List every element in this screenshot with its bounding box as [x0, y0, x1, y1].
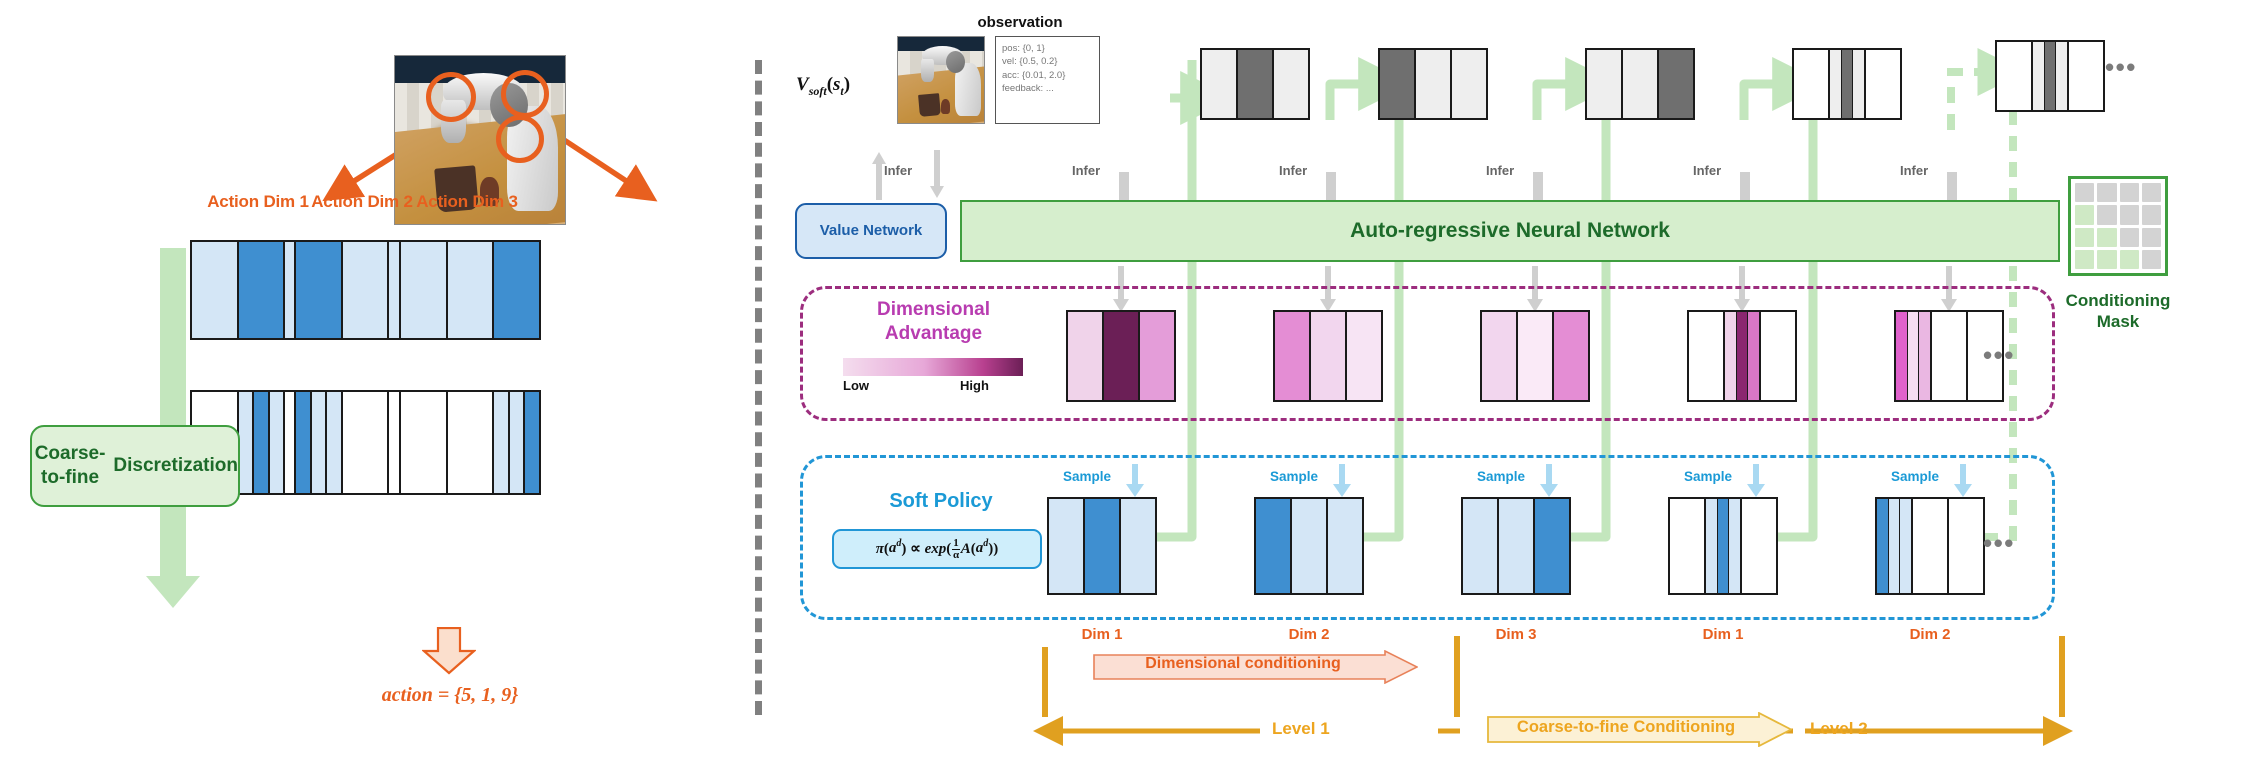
ctf-box-line-1: Coarse-to-fine [32, 442, 108, 490]
sample-label-3: Sample [1477, 469, 1525, 484]
bar-cell-selected [296, 242, 343, 338]
dimensional-advantage-region [800, 286, 2055, 421]
autoregressive-flow-arrow-dashed [1951, 72, 1995, 130]
bar-subcell [2056, 42, 2067, 110]
mask-cell [2075, 205, 2094, 224]
sample-label-2: Sample [1270, 469, 1318, 484]
bar-cell-selected [1535, 499, 1569, 593]
bar-cell [1482, 312, 1518, 400]
bar-cell-expanded [1877, 499, 1913, 593]
infer-label-2: Infer [1279, 163, 1307, 178]
advantage-bar-dim-2 [1273, 310, 1383, 402]
bar-cell [1328, 499, 1362, 593]
bar-subcell-selected [1896, 312, 1908, 400]
bar-subcell-selected [1842, 50, 1854, 118]
bar-cell-selected [1256, 499, 1292, 593]
bar-cell [1311, 312, 1347, 400]
sample-down-arrow-1 [1126, 464, 1144, 498]
dim-footer-2: Dim 2 [1264, 626, 1354, 643]
sample-label-5: Sample [1891, 469, 1939, 484]
bar-cell [1463, 499, 1499, 593]
obs-line-acc: acc: {0.01, 2.0} [1002, 69, 1093, 82]
action-result-value: action = {5, 1, 9} [330, 684, 570, 707]
bar-cell [343, 392, 390, 493]
bar-subcell-selected [1877, 499, 1889, 593]
mask-cell [2075, 183, 2094, 202]
bar-subcell-selected [254, 392, 270, 493]
bar-cell-selected [239, 242, 286, 338]
bar-subcell [312, 392, 328, 493]
sample-down-arrow-5 [1954, 464, 1972, 498]
mask-cell [2120, 183, 2139, 202]
bar-cell [1932, 312, 1968, 400]
infer-up-connector-3 [1533, 172, 1543, 202]
mask-cell [2097, 250, 2116, 269]
ctf-box-line-2: Discretization [113, 454, 238, 478]
soft-policy-formula: π(ad) ∝ exp(1αA(ad)) [832, 529, 1042, 569]
bar-cell [1518, 312, 1554, 400]
sample-down-arrow-2 [1333, 464, 1351, 498]
bar-cell [401, 392, 448, 493]
policy-bar-dim-1 [1047, 497, 1157, 595]
level-1-footer: Level 1 [1272, 719, 1330, 739]
value-network-line-2: Network [863, 221, 922, 241]
bar-cell-selected [1275, 312, 1311, 400]
mask-cell [2097, 183, 2116, 202]
policy-bar-dim-3 [1461, 497, 1571, 595]
bar-cell-selected [1659, 50, 1693, 118]
advantage-row-ellipsis: ••• [1983, 340, 2015, 371]
bar-cell-expanded [1706, 499, 1742, 593]
bar-subcell [1853, 50, 1864, 118]
mask-label-line-2: Mask [2097, 312, 2140, 331]
bar-cell [1499, 499, 1535, 593]
conditioning-mask-label: Conditioning Mask [2028, 290, 2208, 333]
obs-line-feedback: feedback: ... [1002, 82, 1093, 95]
coarse-to-fine-conditioning-label: Coarse-to-fine Conditioning [1487, 718, 1765, 737]
advantage-bar-dim-1 [1066, 310, 1176, 402]
top-row-ellipsis: ••• [2105, 52, 2137, 83]
advantage-bar-dim-1-l2 [1687, 310, 1797, 402]
mask-cell [2142, 205, 2161, 224]
bar-cell-expanded [2033, 42, 2069, 110]
mask-cell [2142, 183, 2161, 202]
bar-cell-expanded [1830, 50, 1866, 118]
infer-up-connector-1 [1119, 172, 1129, 202]
bar-cell-selected [494, 242, 539, 338]
arnn-label: Auto-regressive Neural Network [1350, 219, 1670, 243]
bar-cell [1689, 312, 1725, 400]
bar-subcell [1706, 499, 1718, 593]
obs-line-pos: pos: {0, 1} [1002, 42, 1093, 55]
coarse-to-fine-discretization-box: Coarse-to-fine Discretization [30, 425, 240, 507]
advantage-color-scale [843, 358, 1023, 376]
arnn-output-bar-3 [1585, 48, 1695, 120]
bar-cell [2069, 42, 2103, 110]
value-network-box: Value Network [795, 203, 947, 259]
sample-label-1: Sample [1063, 469, 1111, 484]
mask-cell [2142, 250, 2161, 269]
bar-cell-expanded [296, 392, 343, 493]
observation-label: observation [900, 14, 1140, 31]
bar-cell [1794, 50, 1830, 118]
obs-line-vel: vel: {0.5, 0.2} [1002, 55, 1093, 68]
bar-subcell [1830, 50, 1842, 118]
policy-bar-dim-2-l2 [1875, 497, 1985, 595]
bar-subcell [327, 392, 341, 493]
action-dim-3-header: Action Dim 3 [387, 192, 547, 212]
bar-cell-expanded [494, 392, 539, 493]
auto-regressive-neural-network-box: Auto-regressive Neural Network [960, 200, 2060, 262]
joint-highlight-circle-1 [426, 72, 476, 122]
bar-cell [1670, 499, 1706, 593]
bar-subcell [239, 392, 255, 493]
bar-cell-selected [1554, 312, 1588, 400]
bar-cell [448, 392, 495, 493]
infer-up-connector-5 [1947, 172, 1957, 202]
bar-subcell [1725, 312, 1737, 400]
value-down-arrow [930, 150, 944, 200]
bar-cell-selected [1380, 50, 1416, 118]
bar-cell-expanded [1896, 312, 1932, 400]
bar-cell [1202, 50, 1238, 118]
arnn-output-bar-2 [1378, 48, 1488, 120]
bar-cell [1452, 50, 1486, 118]
bar-cell [1140, 312, 1174, 400]
bar-cell [1623, 50, 1659, 118]
coarse-to-fine-arrow-shaft [160, 248, 186, 578]
coarse-to-fine-arrow-head [146, 576, 200, 608]
bar-cell [1587, 50, 1623, 118]
action-output-arrow [422, 627, 476, 675]
bar-subcell [270, 392, 284, 493]
mask-cell [2075, 250, 2094, 269]
bar-cell-expanded [239, 392, 286, 493]
bar-cell [1292, 499, 1328, 593]
level-2-footer: Level 2 [1810, 719, 1868, 739]
bar-subcell [510, 392, 526, 493]
bar-subcell-selected [1737, 312, 1749, 400]
joint-highlight-circle-2 [501, 70, 549, 118]
arnn-output-bar-4 [1792, 48, 1902, 120]
bar-cell [1416, 50, 1452, 118]
bar-subcell [2033, 42, 2045, 110]
bar-cell [1121, 499, 1155, 593]
bar-cell [1913, 499, 1949, 593]
dim-footer-5: Dim 2 [1885, 626, 1975, 643]
bar-subcell [1900, 499, 1911, 593]
bar-subcell-selected [525, 392, 539, 493]
mask-cell [2120, 250, 2139, 269]
advantage-scale-low-label: Low [843, 378, 869, 393]
observation-state-box: pos: {0, 1} vel: {0.5, 0.2} acc: {0.01, … [995, 36, 1100, 124]
mask-label-line-1: Conditioning [2066, 291, 2171, 310]
joint-highlight-circle-3 [496, 115, 544, 163]
value-network-line-1: Value [820, 221, 859, 241]
bar-cell [1949, 499, 1983, 593]
mask-cell [2142, 228, 2161, 247]
dimensional-conditioning-label: Dimensional conditioning [1093, 655, 1393, 673]
advantage-scale-high-label: High [960, 378, 989, 393]
bar-subcell [1729, 499, 1740, 593]
observation-thumbnail [897, 36, 985, 124]
bar-subcell [1919, 312, 1930, 400]
infer-label-0: Infer [884, 163, 912, 178]
infer-label-1: Infer [1072, 163, 1100, 178]
infer-label-5: Infer [1900, 163, 1928, 178]
mask-cell [2120, 205, 2139, 224]
bar-cell [343, 242, 390, 338]
policy-bar-dim-1-l2 [1668, 497, 1778, 595]
bar-cell [1274, 50, 1308, 118]
bar-cell-selected [1085, 499, 1121, 593]
bar-subcell [1889, 499, 1901, 593]
advantage-bar-dim-3 [1480, 310, 1590, 402]
bar-subcell [1908, 312, 1920, 400]
bar-cell [1761, 312, 1795, 400]
action-dim-3-level-2-bar [399, 390, 541, 495]
mask-cell [2120, 228, 2139, 247]
policy-row-ellipsis: ••• [1983, 528, 2015, 559]
mask-cell [2097, 228, 2116, 247]
bar-subcell [494, 392, 510, 493]
panel-divider [755, 60, 762, 715]
infer-label-4: Infer [1693, 163, 1721, 178]
bar-subcell-selected [1718, 499, 1730, 593]
bar-cell [192, 242, 239, 338]
dim-footer-1: Dim 1 [1057, 626, 1147, 643]
bar-subcell-selected [2045, 42, 2057, 110]
infer-label-3: Infer [1486, 163, 1514, 178]
bar-cell-expanded [1725, 312, 1761, 400]
value-soft-symbol: Vsoft(st) [796, 74, 850, 99]
policy-bar-dim-2 [1254, 497, 1364, 595]
bar-subcell-selected [296, 392, 312, 493]
sample-down-arrow-3 [1540, 464, 1558, 498]
arnn-output-bar-5 [1995, 40, 2105, 112]
bar-cell [1742, 499, 1776, 593]
bar-cell-selected [1238, 50, 1274, 118]
infer-up-connector-2 [1326, 172, 1336, 202]
action-dim-3-level-1-bar [399, 240, 541, 340]
conditioning-mask-grid [2068, 176, 2168, 276]
dim-footer-3: Dim 3 [1471, 626, 1561, 643]
bar-cell [401, 242, 448, 338]
bar-cell [1997, 42, 2033, 110]
bar-cell [1347, 312, 1381, 400]
bar-subcell [1748, 312, 1759, 400]
sample-down-arrow-4 [1747, 464, 1765, 498]
dim-footer-4: Dim 1 [1678, 626, 1768, 643]
bar-cell [1866, 50, 1900, 118]
bar-cell [1068, 312, 1104, 400]
soft-policy-formula-text: π(ad) ∝ exp(1αA(ad)) [876, 538, 999, 561]
bar-cell-selected [1104, 312, 1140, 400]
bar-cell [448, 242, 495, 338]
mask-cell [2097, 205, 2116, 224]
arnn-output-bar-1 [1200, 48, 1310, 120]
infer-up-connector-4 [1740, 172, 1750, 202]
bar-cell [1049, 499, 1085, 593]
sample-label-4: Sample [1684, 469, 1732, 484]
mask-cell [2075, 228, 2094, 247]
